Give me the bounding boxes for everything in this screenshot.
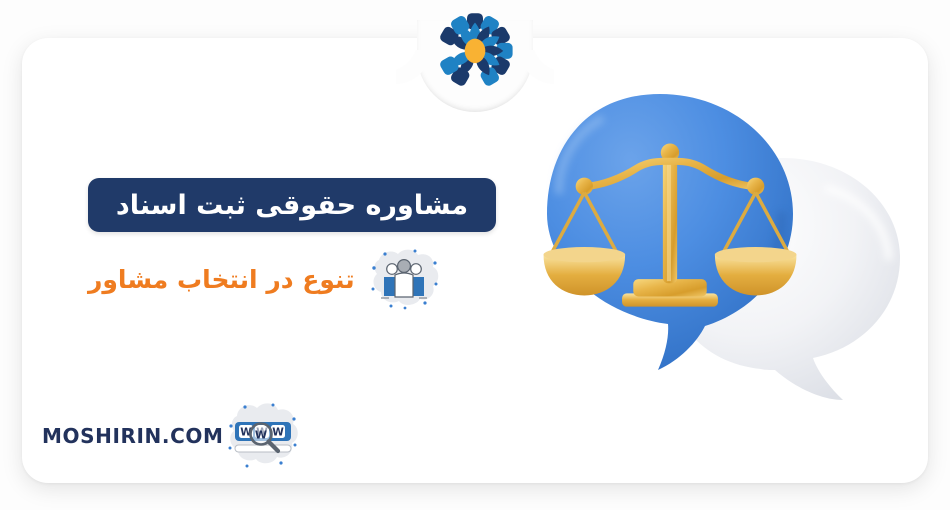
subtitle-row: تنوع در انتخاب مشاور <box>88 246 496 312</box>
group-of-people-icon <box>365 246 443 312</box>
svg-text:W: W <box>273 427 285 439</box>
title-banner: مشاوره حقوقی ثبت اسناد <box>88 178 496 232</box>
banner-stage: مشاوره حقوقی ثبت اسناد تنوع در انتخاب مش… <box>0 0 950 510</box>
site-brand[interactable]: W W W W MOSHIRIN.COM <box>36 398 301 474</box>
page-title: مشاوره حقوقی ثبت اسناد <box>116 190 468 221</box>
speech-bubble-scales-of-justice-icon <box>525 70 925 430</box>
page-subtitle: تنوع در انتخاب مشاور <box>88 265 355 294</box>
mandala-flower-logo-icon <box>428 2 522 96</box>
brand-name-label: MOSHIRIN.COM <box>42 424 223 448</box>
svg-text:W: W <box>255 429 267 442</box>
www-browser-search-icon: W W W W <box>223 398 301 474</box>
